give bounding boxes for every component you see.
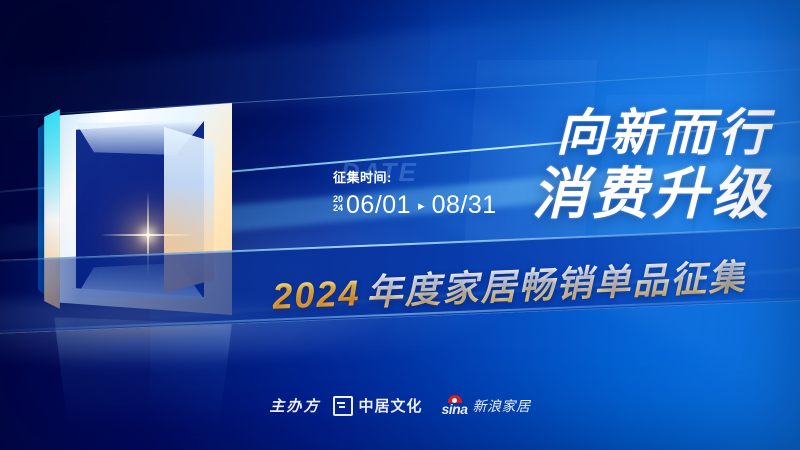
sina-logo: sina: [442, 395, 468, 416]
footer-organizers: 主办方 中居文化 sina 新浪家居: [0, 395, 800, 416]
headline-line-2: 消费升级: [532, 166, 772, 222]
brand-zhongju-name: 中居文化: [358, 395, 422, 416]
date-year-bottom: 24: [333, 204, 343, 213]
background-glow-right: [300, 0, 800, 450]
date-range-row: 20 24 06/01 ▸ 08/31: [333, 191, 518, 220]
date-block: DATE 征集时间: 20 24 06/01 ▸ 08/31: [333, 167, 518, 222]
headline-block: 向新而行 DATE 征集时间: 20 24 06/01 ▸ 08/31 消费升级: [333, 108, 772, 222]
zhongju-logo-icon: [333, 396, 353, 416]
sina-wordmark: sina: [442, 402, 468, 416]
date-label: 征集时间:: [333, 167, 518, 186]
brand-sina-name: 新浪家居: [473, 396, 531, 416]
subtitle-year: 2024: [271, 272, 361, 318]
brand-zhongju: 中居文化: [333, 395, 422, 416]
headline-row-2: DATE 征集时间: 20 24 06/01 ▸ 08/31 消费升级: [333, 166, 772, 222]
light-flare-star-icon: [146, 233, 150, 237]
date-separator-icon: ▸: [414, 198, 429, 214]
organizer-label: 主办方: [269, 395, 320, 416]
sina-eye-icon: [448, 395, 462, 403]
date-start: 06/01: [346, 191, 411, 220]
date-end: 08/31: [432, 191, 497, 220]
date-year-stack: 20 24: [333, 195, 343, 216]
poster-canvas: 向新而行 DATE 征集时间: 20 24 06/01 ▸ 08/31 消费升级: [0, 0, 800, 450]
brand-sina: sina 新浪家居: [442, 395, 531, 416]
headline-line-1: 向新而行: [333, 108, 772, 158]
